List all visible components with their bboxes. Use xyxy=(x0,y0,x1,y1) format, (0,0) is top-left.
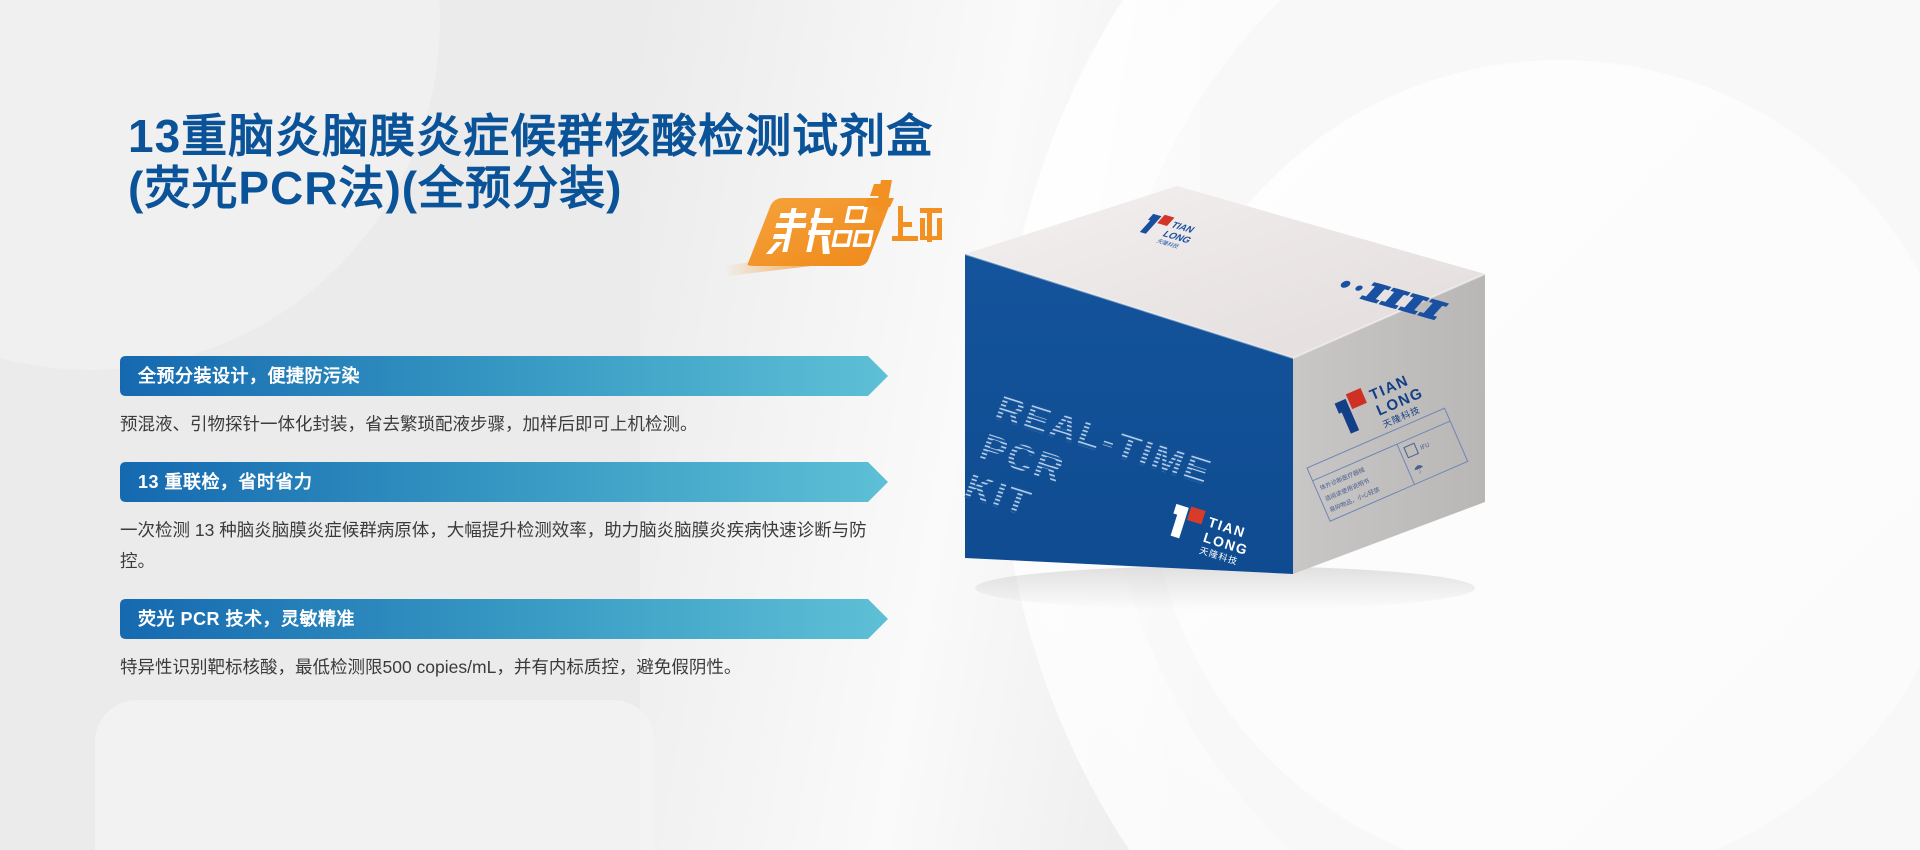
feature-heading-bar: 全预分装设计，便捷防污染 xyxy=(120,356,890,396)
product-box-image: REAL-TIME PCR KIT TIAN LONG 天隆科技 TIAN LO… xyxy=(955,150,1495,620)
feature-heading-text: 荧光 PCR 技术，灵敏精准 xyxy=(138,599,355,639)
feature-item: 荧光 PCR 技术，灵敏精准 特异性识别靶标核酸，最低检测限500 copies… xyxy=(120,599,910,683)
feature-item: 全预分装设计，便捷防污染 预混液、引物探针一体化封装，省去繁琐配液步骤，加样后即… xyxy=(120,356,910,440)
feature-list: 全预分装设计，便捷防污染 预混液、引物探针一体化封装，省去繁琐配液步骤，加样后即… xyxy=(120,356,910,705)
feature-heading-bar: 13 重联检，省时省力 xyxy=(120,462,890,502)
feature-body-text: 特异性识别靶标核酸，最低检测限500 copies/mL，并有内标质控，避免假阴… xyxy=(120,652,880,683)
banner-root: 13重脑炎脑膜炎症候群核酸检测试剂盒 (荧光PCR法)(全预分装) xyxy=(0,0,1920,850)
feature-item: 13 重联检，省时省力 一次检测 13 种脑炎脑膜炎症候群病原体，大幅提升检测效… xyxy=(120,462,910,577)
feature-heading-bar: 荧光 PCR 技术，灵敏精准 xyxy=(120,599,890,639)
new-product-badge xyxy=(722,178,942,278)
title-line-1: 13重脑炎脑膜炎症候群核酸检测试剂盒 xyxy=(128,110,1008,162)
feature-body-text: 预混液、引物探针一体化封装，省去繁琐配液步骤，加样后即可上机检测。 xyxy=(120,409,880,440)
feature-heading-text: 13 重联检，省时省力 xyxy=(138,462,313,502)
feature-heading-text: 全预分装设计，便捷防污染 xyxy=(138,356,360,396)
feature-body-text: 一次检测 13 种脑炎脑膜炎症候群病原体，大幅提升检测效率，助力脑炎脑膜炎疾病快… xyxy=(120,515,880,577)
background-bottom-left-shape xyxy=(95,700,655,850)
